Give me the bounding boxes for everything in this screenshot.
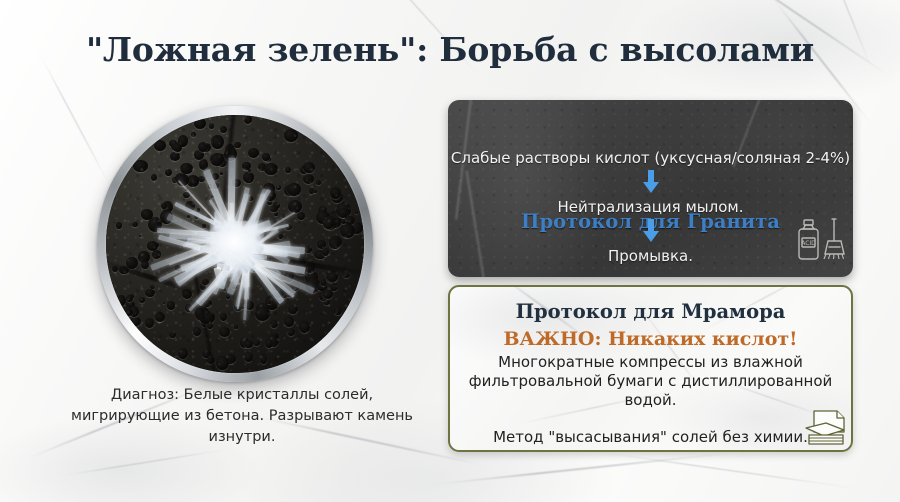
marble-warning-text: ВАЖНО: Никаких кислот! [450,328,851,350]
granite-arrow-2 [448,219,853,243]
slide-title: "Ложная зелень": Борьба с высолами [0,30,900,69]
marble-panel-title: Протокол для Мрамора [450,300,851,323]
photo-caption: Диагноз: Белые кристаллы солей, мигрирую… [62,385,422,448]
granite-arrow-1 [448,170,853,194]
crystal-core-glow [210,221,264,267]
marble-body-text: Многократные компрессы из влажной фильтр… [456,353,845,411]
efflorescence-photo [97,106,373,382]
acid-bottle-and-brush-icon: ACID [795,216,851,268]
granite-step-1: Слабые растворы кислот (уксусная/соляная… [448,149,853,167]
granite-step-2: Нейтрализация мылом. [448,198,853,216]
marble-note-text: Метод "высасывания" солей без химии. [456,428,845,446]
paper-stack-icon [801,408,851,452]
granite-step-3: Промывка. [448,247,853,265]
slide-canvas: "Ложная зелень": Борьба с высолами Диагн… [0,0,900,502]
acid-label: ACID [801,240,816,247]
photo-inner-disc [106,115,364,373]
marble-protocol-panel: Протокол для Мрамора ВАЖНО: Никаких кисл… [448,285,853,452]
